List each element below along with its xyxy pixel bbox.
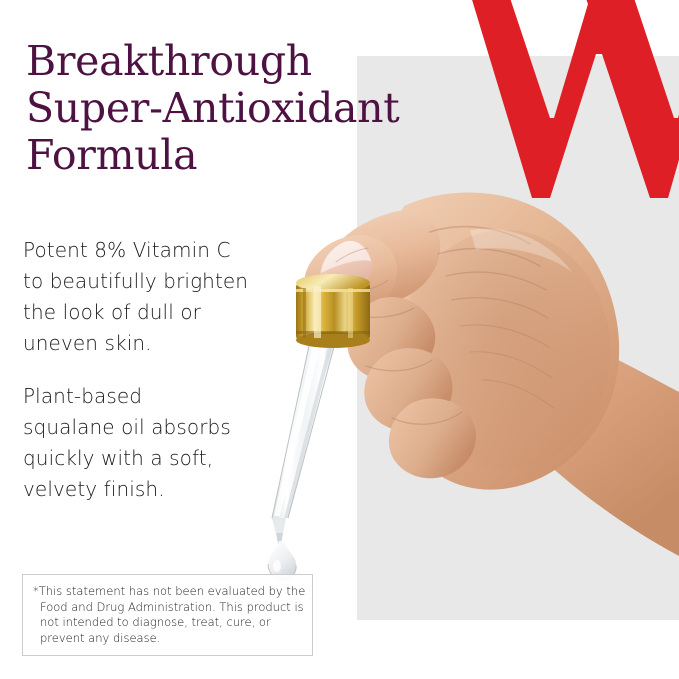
disclaimer-line-1: *This statement has not been evaluated b… xyxy=(33,584,302,600)
benefit-1-line-2: to beautifully brighten xyxy=(23,266,313,297)
headline-line-3: Formula xyxy=(26,132,496,179)
disclaimer-line-2: Food and Drug Administration. This produ… xyxy=(33,600,302,616)
benefit-squalane: Plant-based squalane oil absorbs quickly… xyxy=(23,381,313,505)
benefit-1-line-4: uneven skin. xyxy=(23,328,313,359)
benefit-1-line-1: Potent 8% Vitamin C xyxy=(23,235,313,266)
headline: Breakthrough Super-Antioxidant Formula xyxy=(26,38,496,179)
headline-line-2: Super-Antioxidant xyxy=(26,85,496,132)
headline-line-1: Breakthrough xyxy=(26,38,496,85)
disclaimer-line-3: not intended to diagnose, treat, cure, o… xyxy=(33,615,302,631)
benefit-2-line-3: quickly with a soft, xyxy=(23,443,313,474)
fda-disclaimer-box: *This statement has not been evaluated b… xyxy=(22,574,313,656)
benefit-2-line-4: velvety finish. xyxy=(23,474,313,505)
product-marketing-image: Breakthrough Super-Antioxidant Formula P… xyxy=(0,0,679,679)
benefit-2-line-1: Plant-based xyxy=(23,381,313,412)
disclaimer-line-4: prevent any disease. xyxy=(33,631,302,647)
benefit-vitamin-c: Potent 8% Vitamin C to beautifully brigh… xyxy=(23,235,313,359)
benefit-1-line-3: the look of dull or xyxy=(23,297,313,328)
benefit-2-line-2: squalane oil absorbs xyxy=(23,412,313,443)
